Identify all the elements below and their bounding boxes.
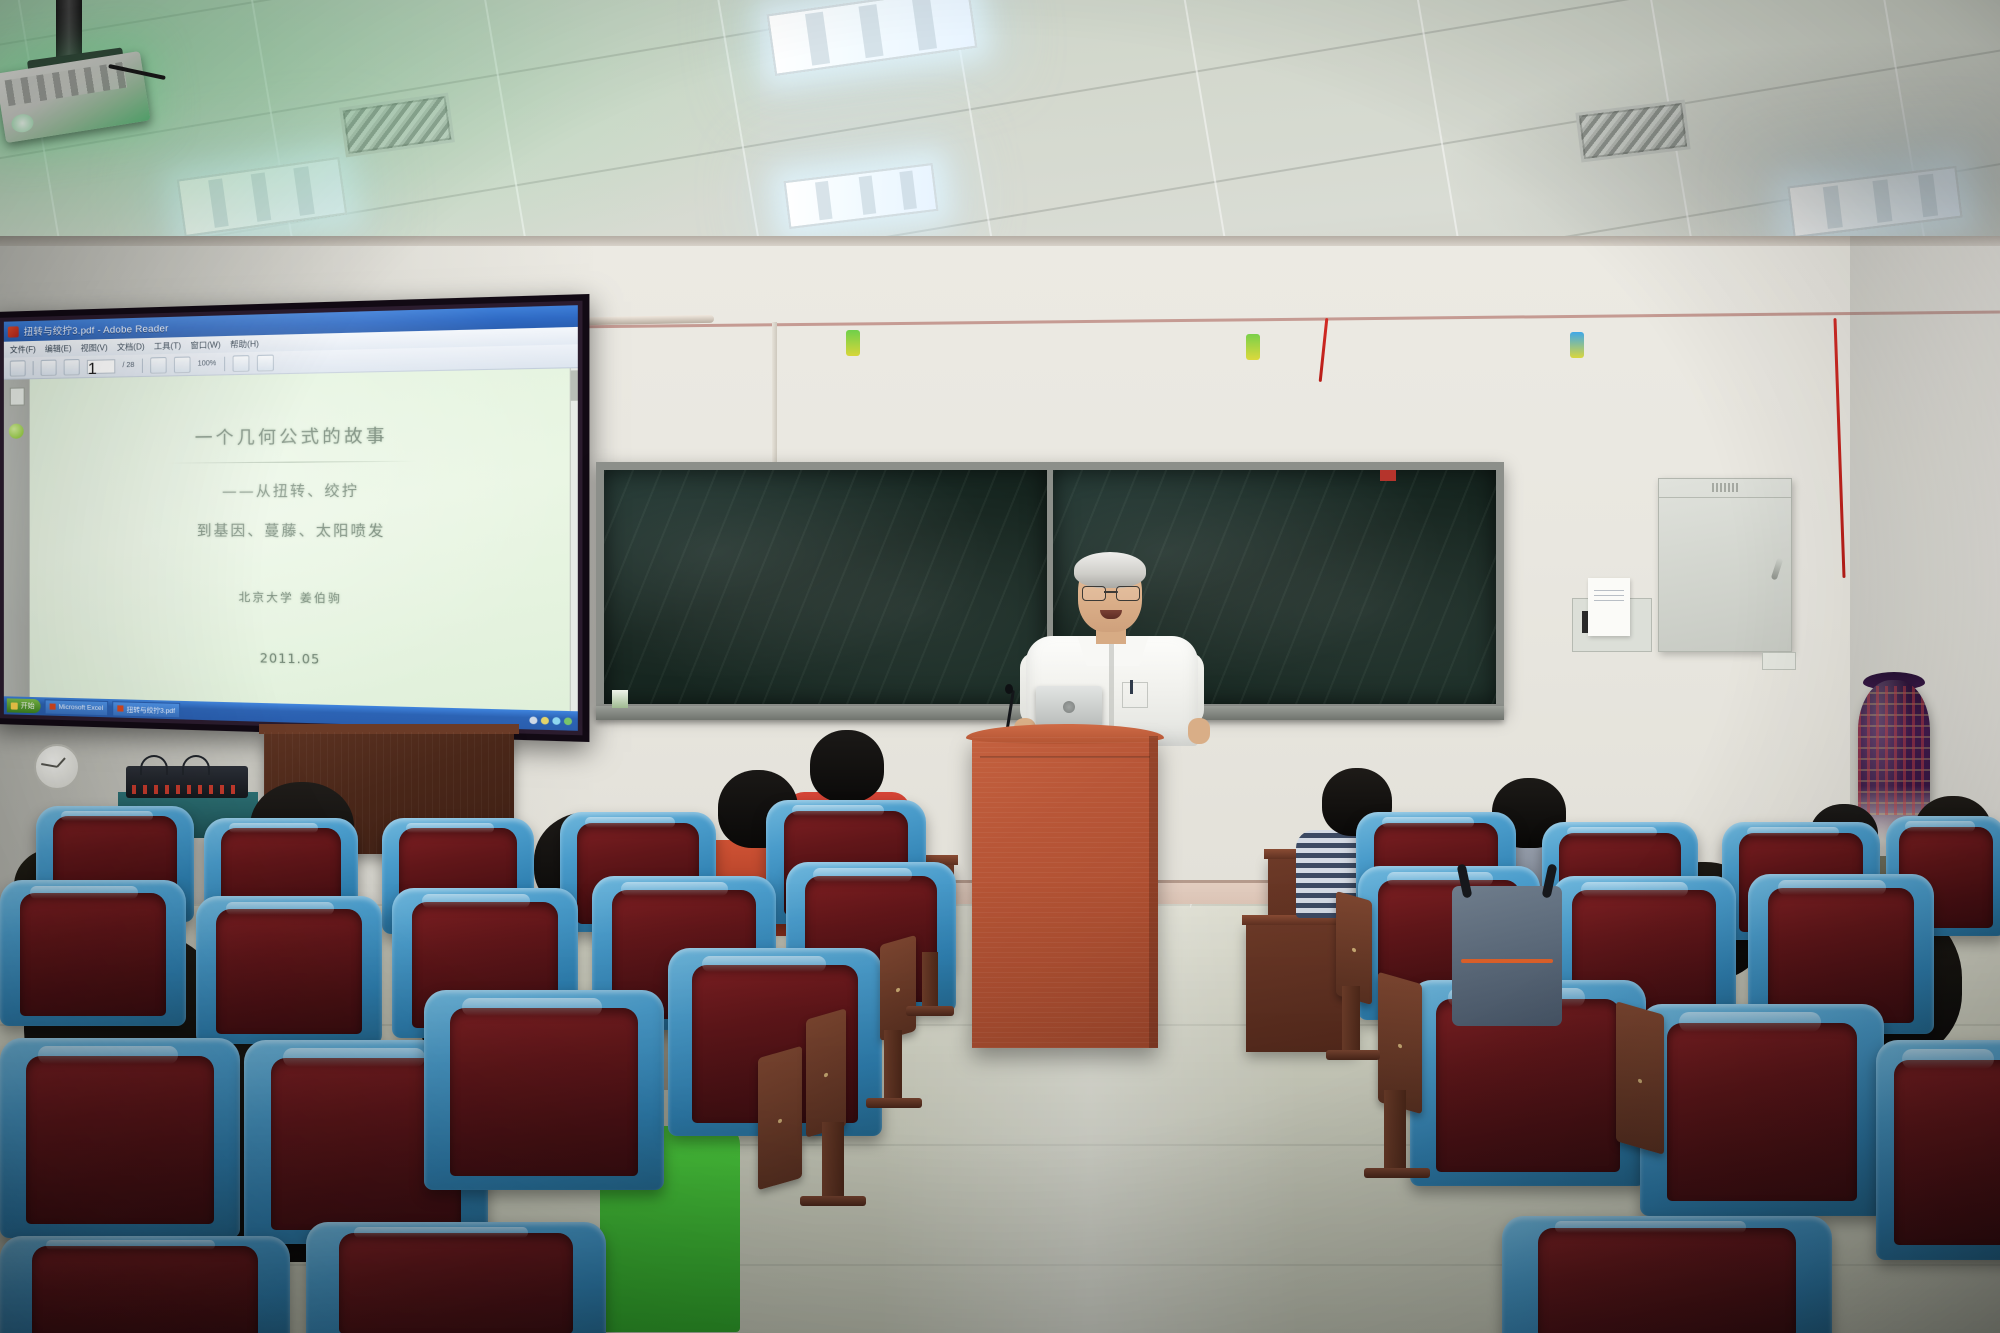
seat-leg — [1384, 1090, 1406, 1178]
auditorium-seat[interactable] — [196, 896, 382, 1044]
auditorium-seat[interactable] — [0, 880, 186, 1026]
cabinet-handle[interactable] — [1771, 558, 1784, 581]
pages-panel-icon[interactable] — [10, 387, 25, 405]
wall-clock — [34, 744, 80, 790]
menu-tools[interactable]: 工具(T) — [154, 340, 181, 352]
taskbar-item[interactable]: 扭转与绞拧3.pdf — [112, 701, 180, 718]
slide-divider — [168, 461, 417, 464]
adobe-reader-icon — [8, 326, 19, 337]
blackboard-panel-left — [604, 470, 1047, 704]
seat-leg — [1342, 986, 1360, 1058]
menu-edit[interactable]: 编辑(E) — [45, 343, 72, 355]
seat-foot — [1326, 1050, 1380, 1060]
microphone-head — [1005, 684, 1013, 694]
blackboard-badge — [1380, 470, 1396, 481]
projection-screen: 扭转与绞拧3.pdf - Adobe Reader 文件(F) 编辑(E) 视图… — [0, 294, 589, 742]
start-button[interactable]: 开始 — [7, 698, 41, 713]
page-total-label: / 28 — [122, 362, 134, 369]
mixer-cable — [182, 755, 210, 775]
screen-surface: 扭转与绞拧3.pdf - Adobe Reader 文件(F) 编辑(E) 视图… — [4, 305, 578, 731]
wall-socket — [1762, 652, 1796, 670]
zoom-out-icon[interactable] — [150, 357, 167, 374]
pdf-page: 一个几何公式的故事 ——从扭转、绞拧 到基因、蔓藤、太阳喷发 北京大学 姜伯驹 … — [30, 368, 571, 711]
ime-icon[interactable] — [552, 717, 560, 725]
auditorium-seat[interactable] — [1502, 1216, 1832, 1333]
zoom-level-label[interactable]: 100% — [198, 360, 217, 368]
seat-foot — [1364, 1168, 1430, 1178]
volume-icon[interactable] — [541, 716, 549, 724]
lecturer-shirt-pocket — [1122, 682, 1148, 708]
laptop — [1036, 686, 1102, 726]
podium-edge — [1149, 736, 1158, 1048]
seat-leg — [884, 1030, 902, 1104]
open-file-icon[interactable] — [10, 360, 26, 376]
menu-document[interactable]: 文档(D) — [117, 341, 145, 353]
seat-armrest — [1616, 1001, 1664, 1155]
auditorium-seat[interactable] — [1876, 1040, 2000, 1260]
slide-date: 2011.05 — [30, 647, 571, 672]
page-number-input[interactable]: 1 — [87, 359, 115, 374]
projector-ports — [5, 62, 128, 106]
toolbar-divider — [224, 356, 225, 370]
yellow-hook-icon — [1246, 334, 1260, 360]
windows-flag-icon — [11, 702, 18, 709]
seat-foot — [866, 1098, 922, 1108]
auditorium-seat[interactable] — [0, 1236, 290, 1333]
podium-wood-grain — [972, 736, 1158, 1048]
mixer-cable — [140, 755, 168, 775]
navigation-pane[interactable] — [4, 379, 31, 697]
taskbar-item-label: Microsoft Excel — [59, 703, 104, 711]
slide-subtitle-line-2: 到基因、蔓藤、太阳喷发 — [30, 520, 571, 542]
fit-page-icon[interactable] — [232, 355, 249, 372]
cabinet-seam — [1659, 497, 1791, 498]
cabinet-label — [1712, 483, 1738, 492]
adobe-reader-icon — [117, 705, 123, 711]
lecturer-hair — [1074, 552, 1146, 588]
pen-icon — [1130, 680, 1133, 694]
chalk-box — [612, 690, 628, 708]
menu-view[interactable]: 视图(V) — [81, 342, 108, 354]
previous-page-icon[interactable] — [41, 359, 57, 375]
slide-author: 北京大学 姜伯驹 — [30, 586, 571, 609]
scrollbar-thumb[interactable] — [571, 370, 578, 401]
menu-file[interactable]: 文件(F) — [10, 343, 36, 355]
next-page-icon[interactable] — [64, 359, 80, 376]
rotate-view-icon[interactable] — [256, 354, 273, 371]
zoom-in-icon[interactable] — [174, 356, 191, 373]
auditorium-seat[interactable] — [306, 1222, 606, 1333]
auditorium-seat[interactable] — [1640, 1004, 1884, 1216]
mixer-knobs — [132, 785, 242, 794]
clock-minute-hand — [41, 763, 57, 767]
green-hook-icon — [846, 330, 860, 356]
seat-leg — [822, 1122, 844, 1202]
projector-lens — [10, 113, 35, 134]
taskbar-item[interactable]: Microsoft Excel — [45, 699, 109, 716]
seat-foot — [800, 1196, 866, 1206]
seat-foot — [906, 1006, 954, 1016]
slide-subtitle-line-1: ——从扭转、绞拧 — [30, 479, 571, 502]
audio-mixer — [126, 766, 248, 798]
seat-armrest — [806, 1008, 846, 1137]
laptop-lid-logo — [1063, 701, 1075, 713]
bookmarks-panel-icon[interactable] — [9, 424, 24, 439]
window-title: 扭转与绞拧3.pdf - Adobe Reader — [24, 320, 169, 338]
podium — [972, 736, 1158, 1048]
excel-icon — [50, 704, 56, 710]
vertical-scrollbar[interactable] — [570, 368, 578, 711]
menu-window[interactable]: 窗口(W) — [190, 339, 220, 351]
menu-help[interactable]: 帮助(H) — [230, 338, 259, 350]
seat-leg — [922, 952, 938, 1014]
toolbar-divider — [142, 358, 143, 372]
toolbar-divider — [33, 361, 34, 375]
start-button-label: 开始 — [21, 701, 35, 711]
slide-title: 一个几何公式的故事 — [30, 418, 571, 450]
blue-hook-icon — [1570, 332, 1584, 358]
clock-hour-hand — [56, 757, 66, 767]
auditorium-seat[interactable] — [0, 1038, 240, 1238]
taskbar-item-label: 扭转与绞拧3.pdf — [127, 704, 175, 716]
antivirus-icon[interactable] — [564, 717, 572, 725]
seat-armrest — [880, 935, 916, 1041]
notice-paper — [1588, 578, 1630, 636]
electrical-cabinet[interactable] — [1658, 478, 1792, 652]
glasses-icon — [1082, 586, 1140, 599]
auditorium-seat[interactable] — [424, 990, 664, 1190]
lecturer-hand-right — [1188, 718, 1210, 744]
seat-armrest — [758, 1046, 802, 1191]
network-icon[interactable] — [529, 716, 537, 724]
backpack — [1452, 886, 1562, 1026]
system-tray — [529, 716, 574, 725]
lecture-hall-photo: 扭转与绞拧3.pdf - Adobe Reader 文件(F) 编辑(E) 视图… — [0, 0, 2000, 1333]
